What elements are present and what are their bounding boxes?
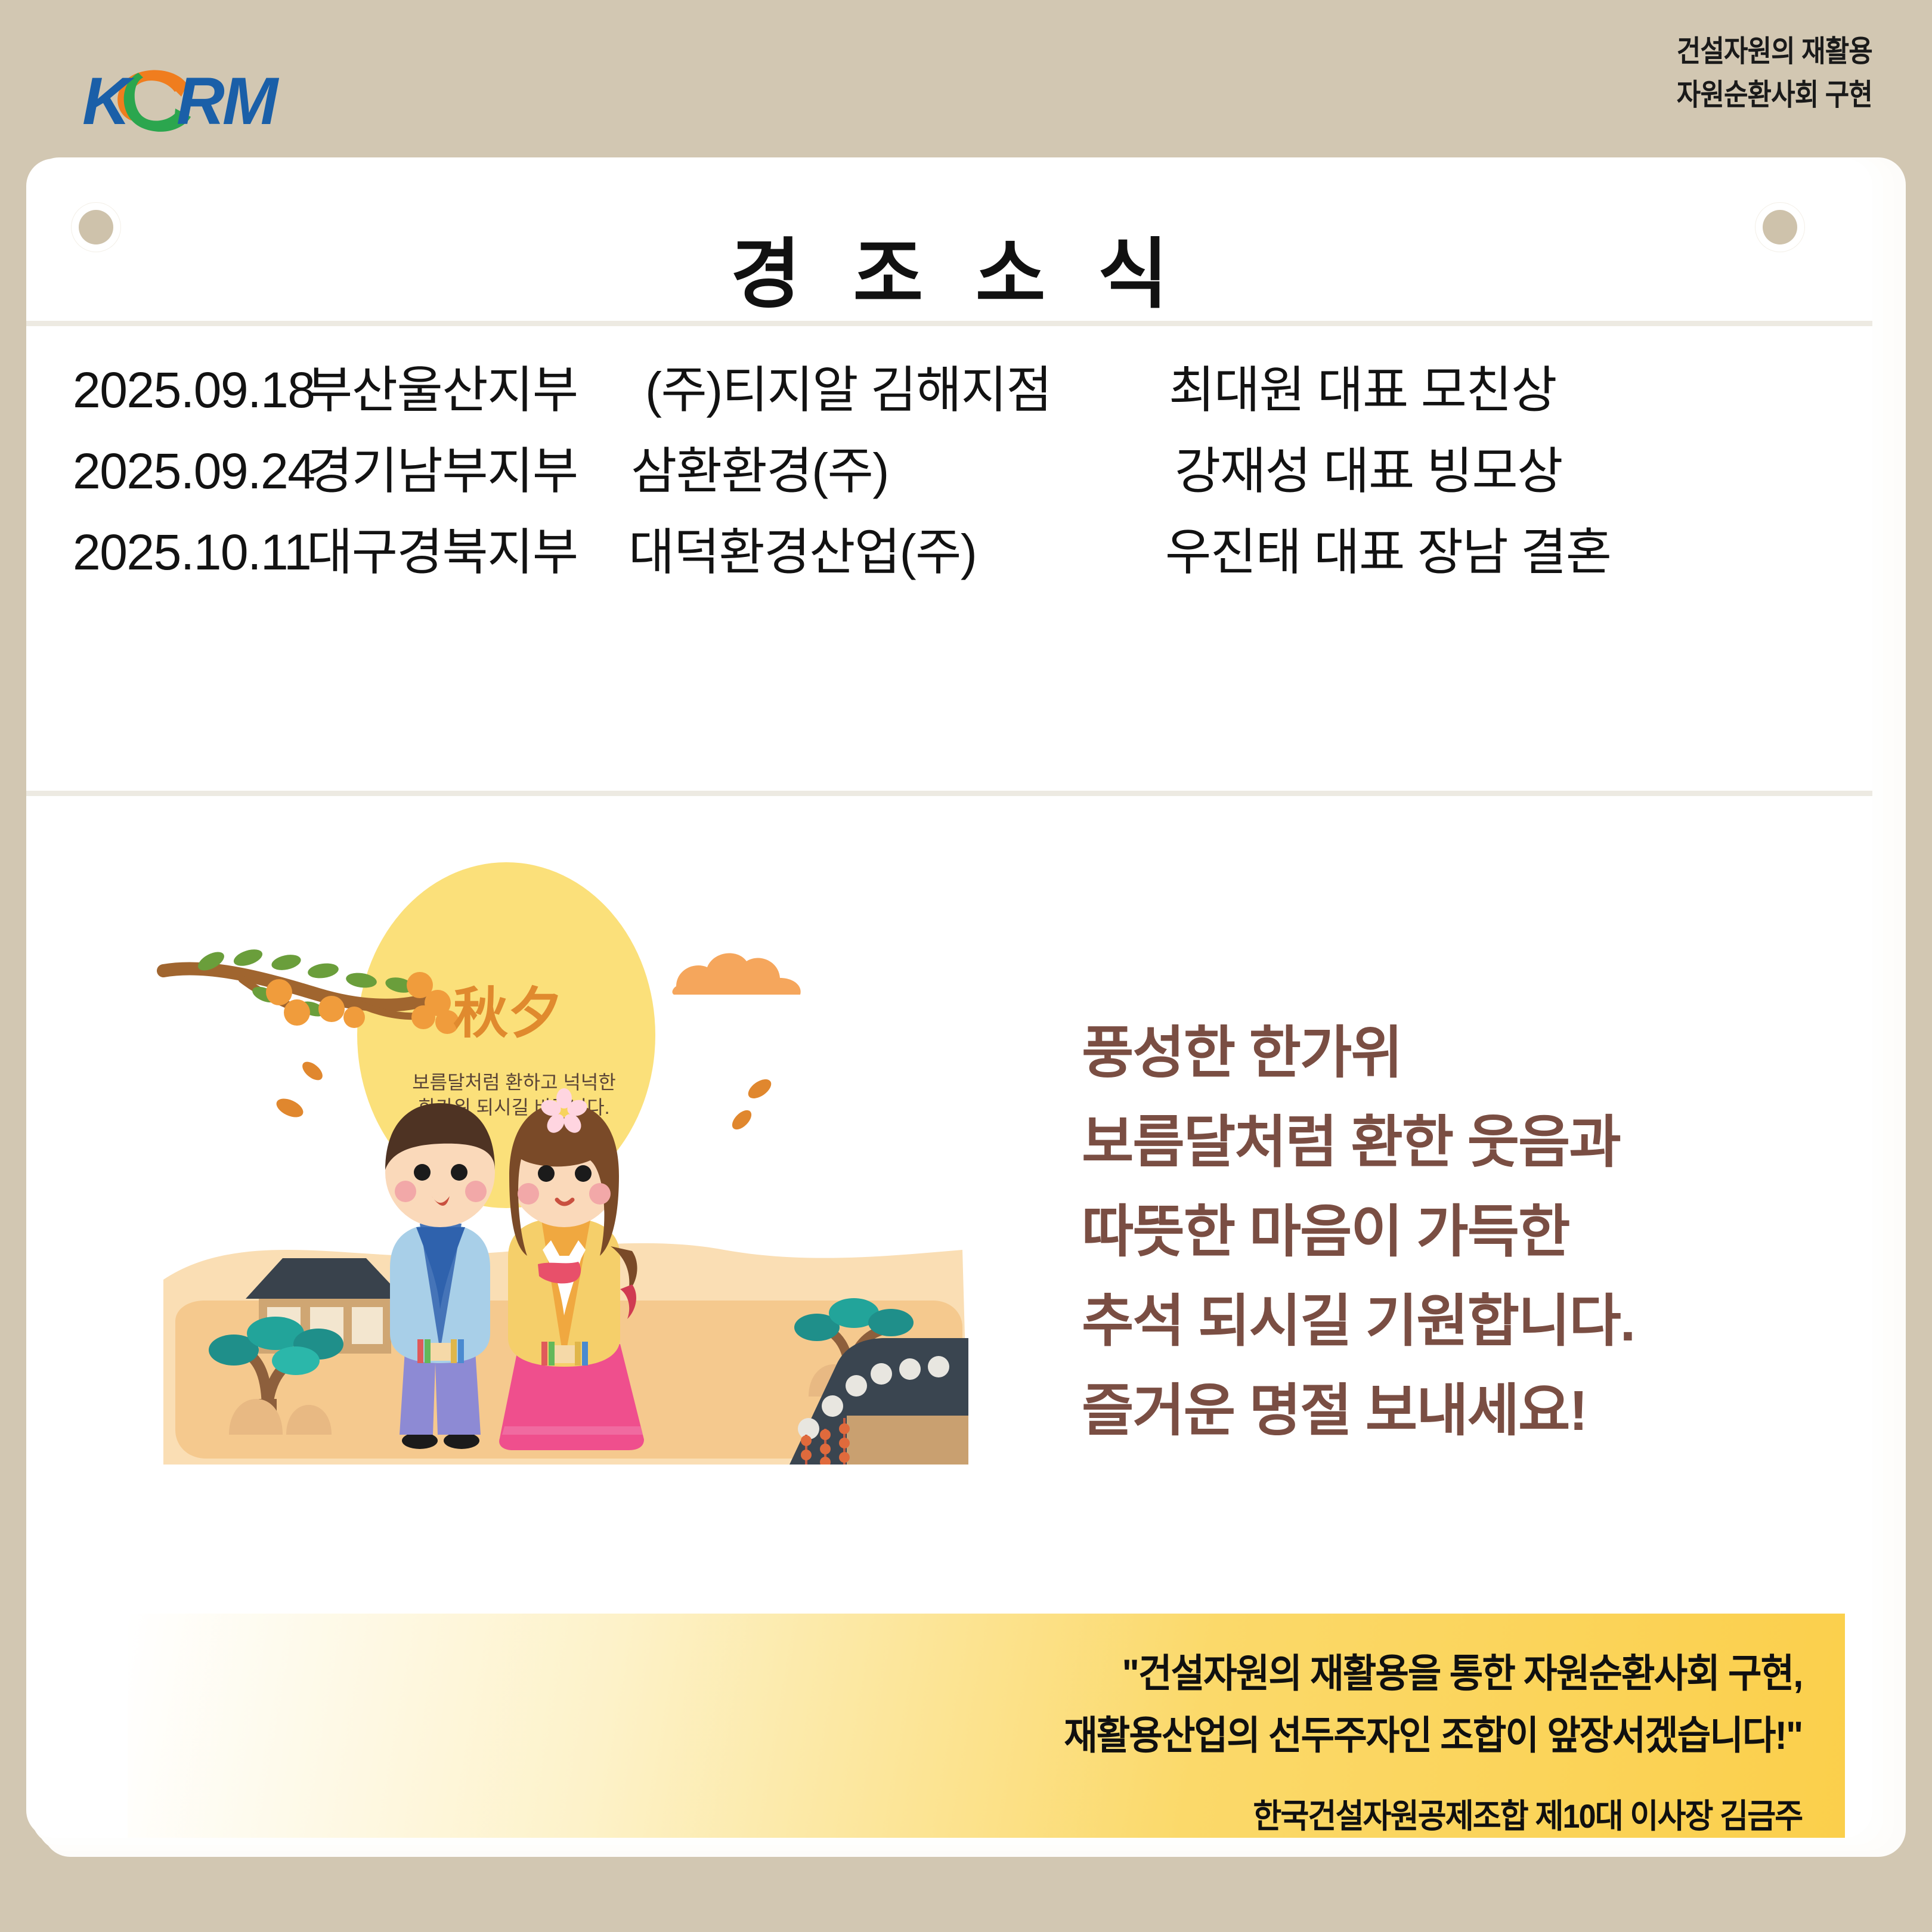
slogan-quote: "건설자원의 재활용을 통한 자원순환사회 구현, 재활용산업의 선두주자인 조… — [1008, 1642, 1802, 1767]
tagline-line-2: 자원순환사회 구현 — [1677, 73, 1872, 117]
news-company: 삼환환경(주) — [617, 431, 1141, 512]
news-company: (주)티지알 김해지점 — [617, 349, 1141, 431]
paper-card-stack: 경 조 소 식 2025.09.18 부산울산지부 (주)티지알 김해지점 최대… — [26, 157, 1906, 1860]
kcrm-logo: K C RM — [76, 57, 303, 147]
news-note: 우진태 대표 장남 결혼 — [1141, 512, 1872, 593]
greeting-line-2: 보름달처럼 환한 웃음과 — [1082, 1098, 1851, 1187]
svg-text:K: K — [82, 64, 135, 138]
greeting-line-4: 추석 되시길 기원합니다. — [1082, 1277, 1851, 1366]
slogan-quote-line-2: 재활용산업의 선두주자인 조합이 앞장서겠습니다!" — [1064, 1704, 1802, 1766]
svg-text:RM: RM — [177, 64, 280, 138]
greeting-line-3: 따뜻한 마음이 가득한 — [1082, 1187, 1851, 1277]
chuseok-illustration: 秋夕 보름달처럼 환하고 넉넉한 한가위 되시길 바랍니다. — [140, 838, 968, 1465]
tagline-line-1: 건설자원의 재활용 — [1677, 30, 1872, 73]
news-date: 2025.09.24 — [26, 431, 306, 512]
news-company: 대덕환경산업(주) — [617, 512, 1141, 593]
news-branch: 대구경북지부 — [306, 512, 617, 593]
notice-card: 경 조 소 식 2025.09.18 부산울산지부 (주)티지알 김해지점 최대… — [26, 159, 1872, 1838]
news-branch: 부산울산지부 — [306, 349, 617, 431]
news-note: 강재성 대표 빙모상 — [1141, 431, 1872, 512]
divider-top — [26, 321, 1872, 326]
greeting-message: 풍성한 한가위 보름달처럼 환한 웃음과 따뜻한 마음이 가득한 추석 되시길 … — [1082, 1008, 1851, 1456]
news-list: 2025.09.18 부산울산지부 (주)티지알 김해지점 최대원 대표 모친상… — [26, 349, 1872, 593]
greeting-line-5: 즐거운 명절 보내세요! — [1082, 1366, 1851, 1456]
illustration-caption-1: 보름달처럼 환하고 넉넉한 — [412, 1072, 616, 1093]
poster-page: K C RM 건설자원의 재활용 자원순환사회 구현 경 조 소 식 2025.… — [0, 0, 1932, 1932]
table-row: 2025.09.18 부산울산지부 (주)티지알 김해지점 최대원 대표 모친상 — [26, 349, 1872, 431]
kcrm-logo-svg: K C RM — [76, 57, 303, 147]
slogan-signature: 한국건설자원공제조합 제10대 이사장 김금주 — [1253, 1789, 1802, 1838]
hanja-title: 秋夕 — [453, 981, 563, 1045]
header-tagline: 건설자원의 재활용 자원순환사회 구현 — [1650, 30, 1872, 116]
table-row: 2025.10.11 대구경북지부 대덕환경산업(주) 우진태 대표 장남 결혼 — [26, 512, 1872, 593]
greeting-line-1: 풍성한 한가위 — [1082, 1008, 1851, 1098]
slogan-band: "건설자원의 재활용을 통한 자원순환사회 구현, 재활용산업의 선두주자인 조… — [128, 1614, 1845, 1838]
kcrm-wordmark: K C RM — [82, 64, 280, 138]
table-row: 2025.09.24 경기남부지부 삼환환경(주) 강재성 대표 빙모상 — [26, 431, 1872, 512]
divider-middle — [26, 791, 1872, 796]
page-title: 경 조 소 식 — [26, 212, 1872, 323]
news-date: 2025.10.11 — [26, 512, 306, 593]
slogan-quote-line-1: "건설자원의 재활용을 통한 자원순환사회 구현, — [1064, 1642, 1802, 1704]
news-branch: 경기남부지부 — [306, 431, 617, 512]
news-date: 2025.09.18 — [26, 349, 306, 431]
news-note: 최대원 대표 모친상 — [1141, 349, 1872, 431]
chuseok-illustration-svg: 秋夕 보름달처럼 환하고 넉넉한 한가위 되시길 바랍니다. — [140, 838, 968, 1465]
cloud-icon — [672, 953, 800, 995]
